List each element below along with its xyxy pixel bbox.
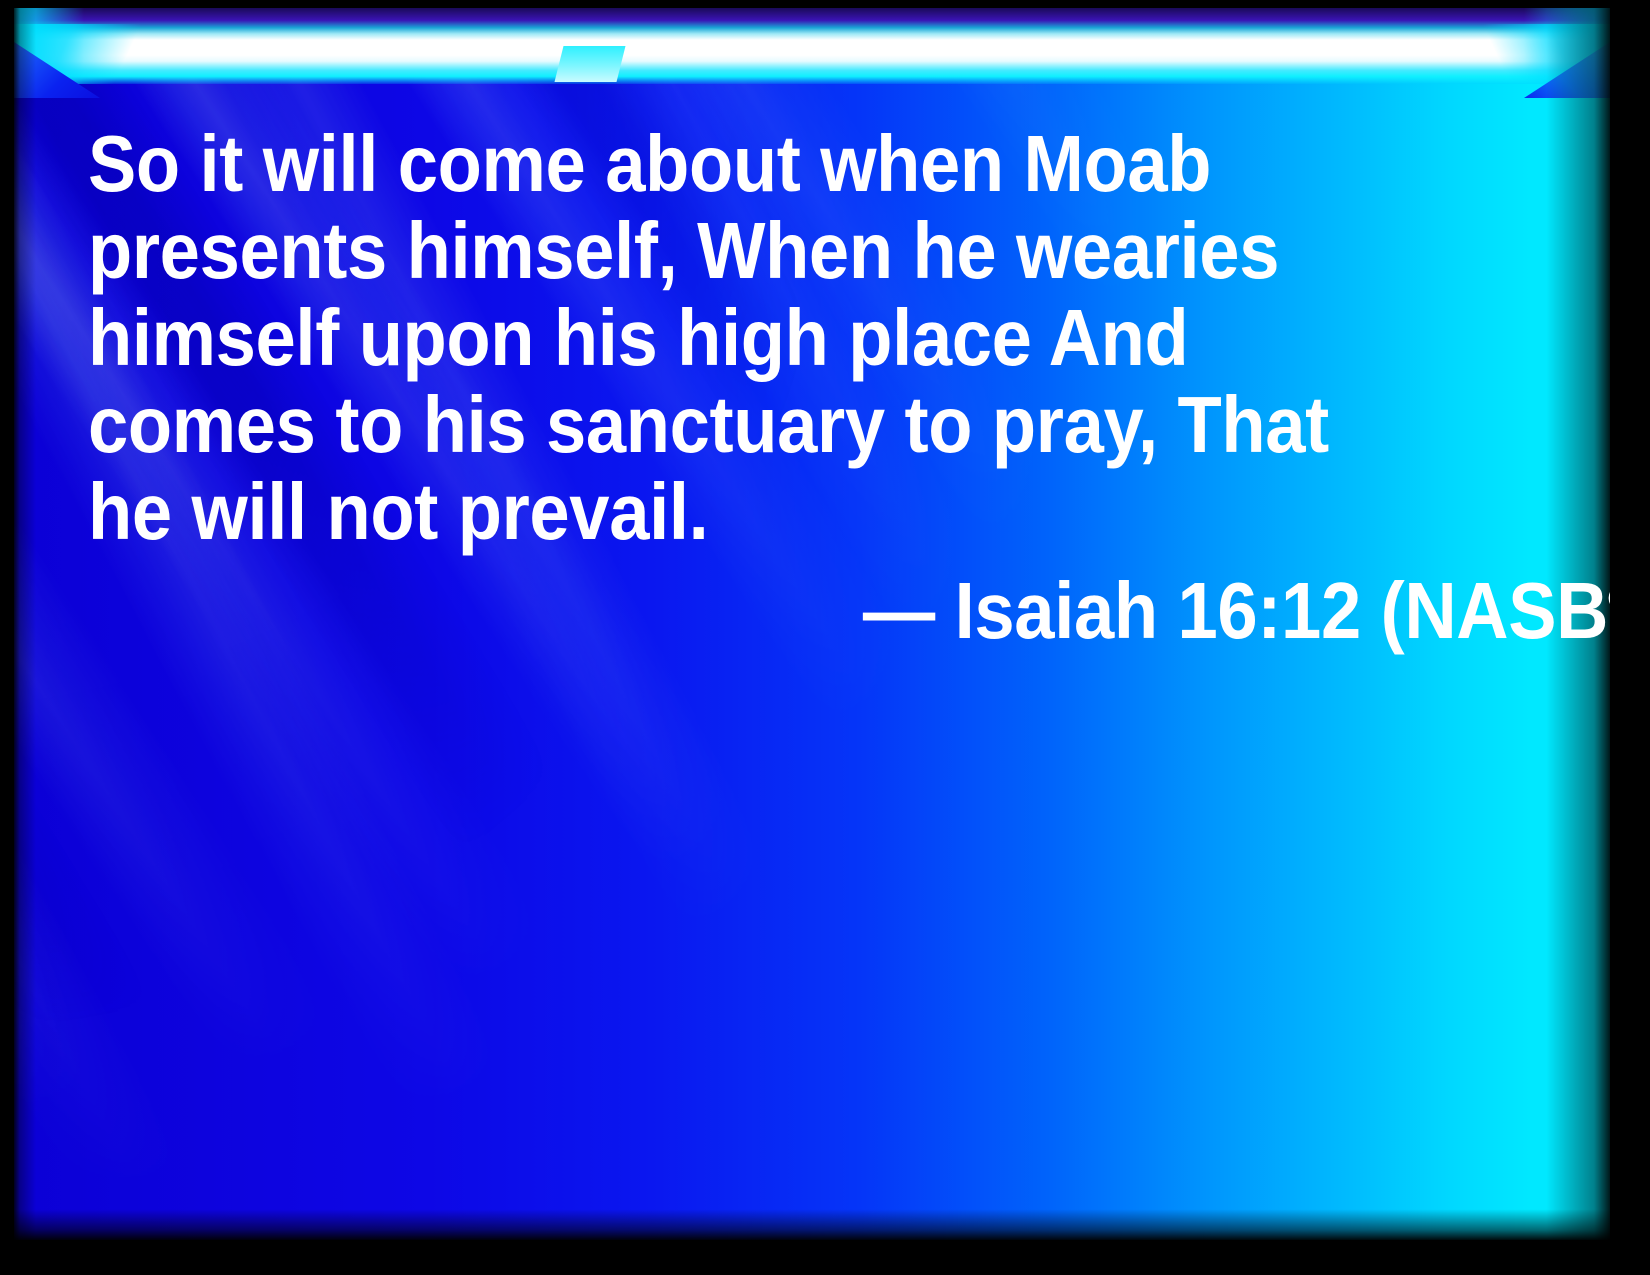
verse-slide: So it will come about when Moab presents… (0, 0, 1650, 1275)
em-dash: — (863, 566, 935, 655)
book-chapter-verse: Isaiah 16:12 (955, 566, 1361, 655)
slide-canvas: So it will come about when Moab presents… (14, 8, 1610, 1240)
verse-attribution: — Isaiah 16:12 (NASB®) (237, 567, 1610, 654)
top-left-shoulder (14, 24, 264, 84)
top-right-shoulder (1360, 24, 1610, 84)
top-highlight-bar (14, 8, 1610, 84)
attribution-dash-and-ref: — Isaiah 16:12 (NASB®) (863, 566, 1610, 655)
translation-open: (NASB (1381, 566, 1608, 655)
verse-text-block: So it will come about when Moab presents… (88, 120, 1508, 654)
top-bar-notch (555, 46, 626, 82)
top-bar-glow (14, 8, 1610, 84)
verse-body-text: So it will come about when Moab presents… (88, 120, 1373, 555)
registered-trademark-icon: ® (1608, 577, 1610, 618)
